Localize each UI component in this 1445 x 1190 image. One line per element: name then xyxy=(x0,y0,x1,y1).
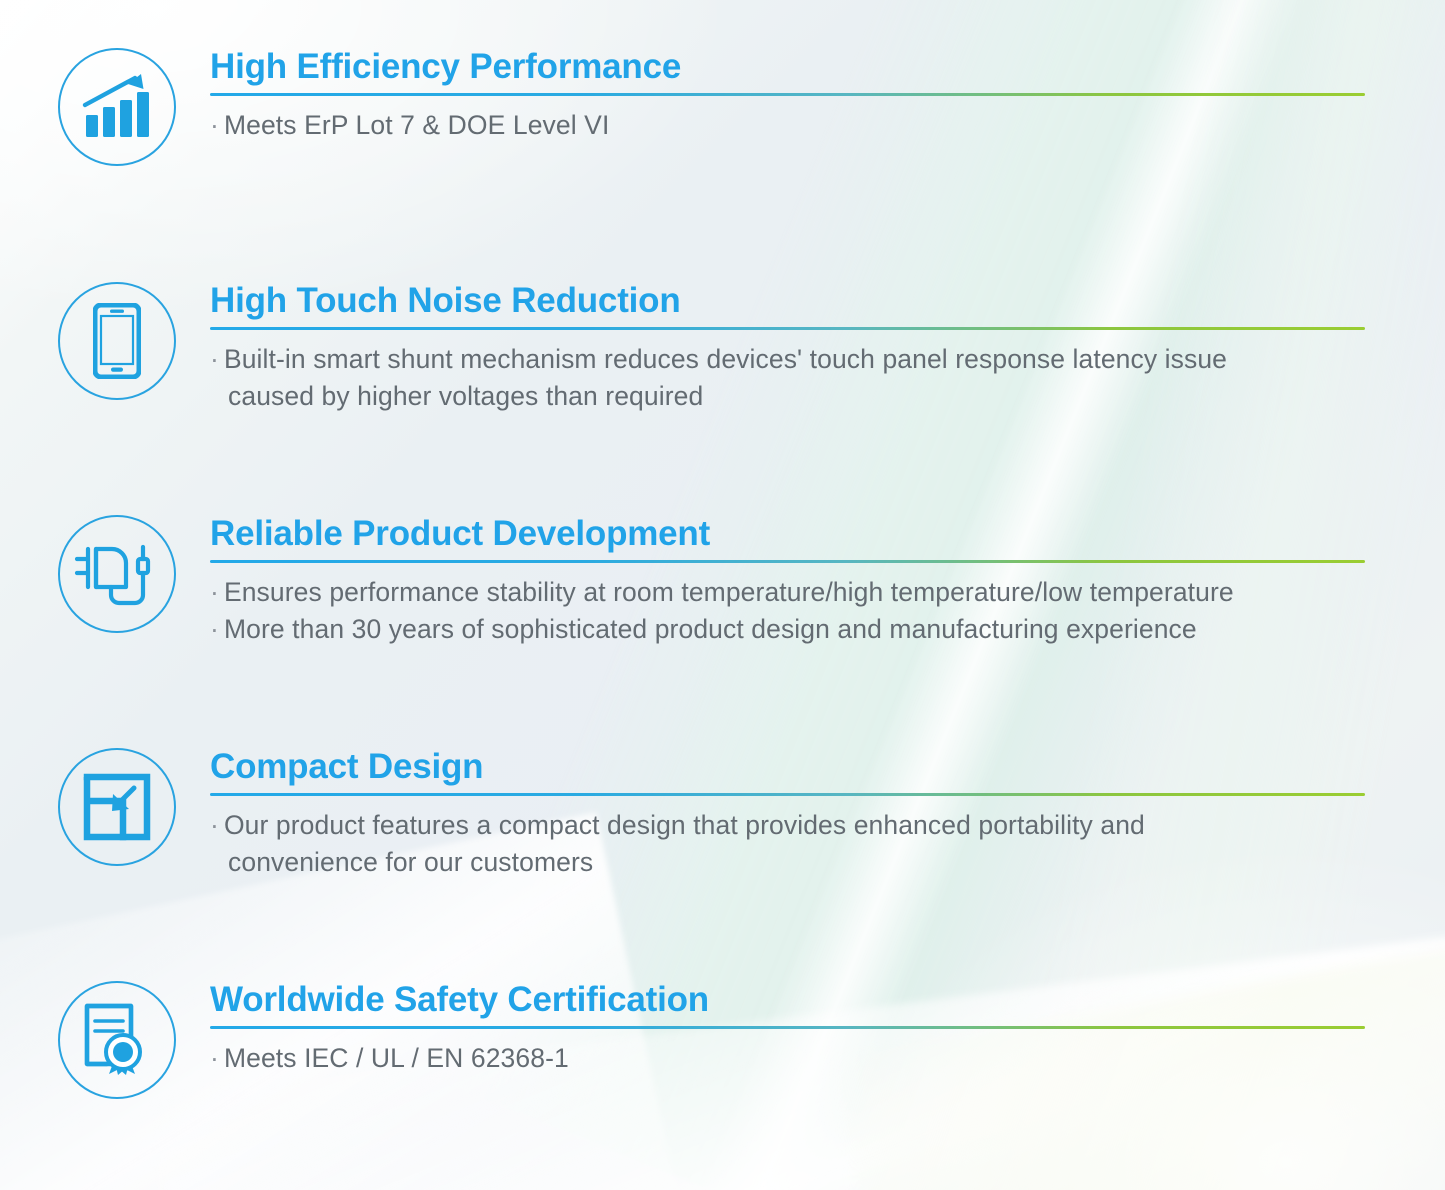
bullet-item: ·Ensures performance stability at room t… xyxy=(210,574,1367,612)
feature-divider xyxy=(210,327,1365,330)
bullet-item: ·Meets ErP Lot 7 & DOE Level VI xyxy=(210,107,1367,145)
feature-body: High Touch Noise Reduction ·Built-in sma… xyxy=(182,282,1445,416)
feature-divider xyxy=(210,93,1365,96)
bullet-item: ·More than 30 years of sophisticated pro… xyxy=(210,611,1367,649)
feature-icon-wrap xyxy=(52,48,182,166)
feature-bullets: ·Meets IEC / UL / EN 62368-1 xyxy=(210,1040,1367,1078)
bullet-marker: · xyxy=(210,1043,219,1073)
feature-icon-wrap xyxy=(52,981,182,1099)
certificate-award-icon xyxy=(58,981,176,1099)
feature-row-compact-design: Compact Design ·Our product features a c… xyxy=(0,748,1445,882)
feature-row-high-touch-noise-reduction: High Touch Noise Reduction ·Built-in sma… xyxy=(0,282,1445,416)
bullet-text-continued: caused by higher voltages than required xyxy=(210,378,1367,416)
feature-body: Reliable Product Development ·Ensures pe… xyxy=(182,515,1445,649)
feature-bullets: ·Ensures performance stability at room t… xyxy=(210,574,1367,649)
feature-title: High Efficiency Performance xyxy=(210,48,1367,86)
feature-title: Worldwide Safety Certification xyxy=(210,981,1367,1019)
feature-body: High Efficiency Performance ·Meets ErP L… xyxy=(182,48,1445,144)
bullet-item: ·Meets IEC / UL / EN 62368-1 xyxy=(210,1040,1367,1078)
feature-row-reliable-product-development: Reliable Product Development ·Ensures pe… xyxy=(0,515,1445,649)
bullet-text-continued: convenience for our customers xyxy=(210,844,1367,882)
bullet-text: More than 30 years of sophisticated prod… xyxy=(224,614,1197,644)
bullet-text: Ensures performance stability at room te… xyxy=(224,577,1234,607)
feature-divider xyxy=(210,793,1365,796)
feature-body: Compact Design ·Our product features a c… xyxy=(182,748,1445,882)
smartphone-icon xyxy=(58,282,176,400)
bullet-marker: · xyxy=(210,614,219,644)
bullet-marker: · xyxy=(210,110,219,140)
feature-title: Compact Design xyxy=(210,748,1367,786)
bullet-marker: · xyxy=(210,810,219,840)
feature-bullets: ·Built-in smart shunt mechanism reduces … xyxy=(210,341,1367,416)
bullet-text: Meets IEC / UL / EN 62368-1 xyxy=(224,1043,569,1073)
feature-title: Reliable Product Development xyxy=(210,515,1367,553)
feature-row-high-efficiency-performance: High Efficiency Performance ·Meets ErP L… xyxy=(0,48,1445,166)
feature-bullets: ·Meets ErP Lot 7 & DOE Level VI xyxy=(210,107,1367,145)
bullet-item: ·Built-in smart shunt mechanism reduces … xyxy=(210,341,1367,416)
bullet-text: Our product features a compact design th… xyxy=(224,810,1145,840)
feature-divider xyxy=(210,1026,1365,1029)
bullet-item: ·Our product features a compact design t… xyxy=(210,807,1367,882)
feature-body: Worldwide Safety Certification ·Meets IE… xyxy=(182,981,1445,1077)
feature-row-worldwide-safety-certification: Worldwide Safety Certification ·Meets IE… xyxy=(0,981,1445,1099)
power-adapter-icon xyxy=(58,515,176,633)
bullet-marker: · xyxy=(210,577,219,607)
feature-icon-wrap xyxy=(52,282,182,400)
feature-icon-wrap xyxy=(52,748,182,866)
compact-shrink-icon xyxy=(58,748,176,866)
bullet-text: Meets ErP Lot 7 & DOE Level VI xyxy=(224,110,609,140)
bullet-marker: · xyxy=(210,344,219,374)
feature-title: High Touch Noise Reduction xyxy=(210,282,1367,320)
bullet-text: Built-in smart shunt mechanism reduces d… xyxy=(224,344,1227,374)
feature-bullets: ·Our product features a compact design t… xyxy=(210,807,1367,882)
feature-highlights-page: High Efficiency Performance ·Meets ErP L… xyxy=(0,0,1445,1190)
feature-divider xyxy=(210,560,1365,563)
feature-icon-wrap xyxy=(52,515,182,633)
bar-chart-growth-icon xyxy=(58,48,176,166)
